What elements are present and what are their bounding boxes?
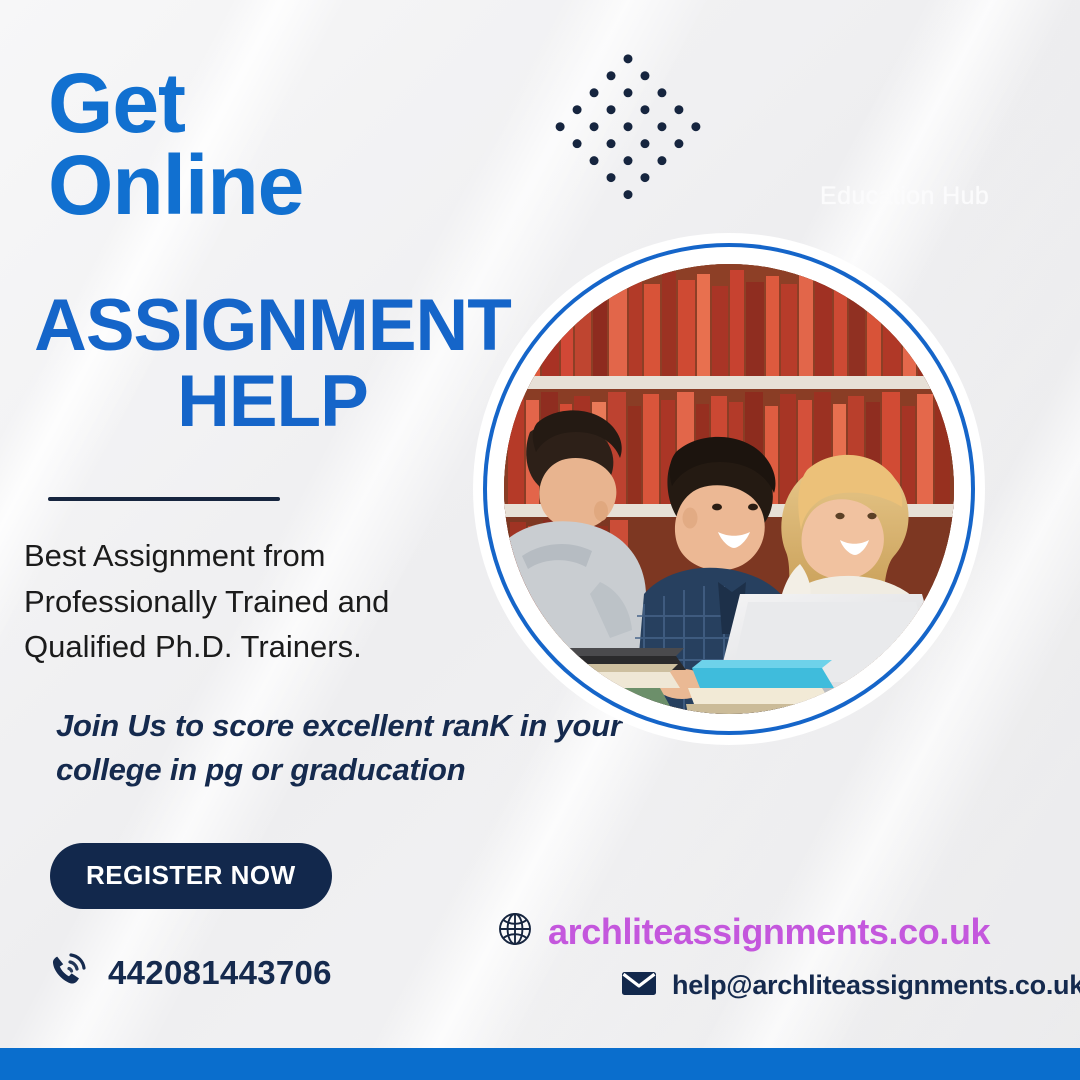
bottom-accent-bar <box>0 1048 1080 1080</box>
dot-diamond-decoration <box>543 41 713 211</box>
headline-line-online: Online <box>48 138 303 232</box>
register-now-button[interactable]: REGISTER NOW <box>50 843 332 909</box>
headline-line-assignment: ASSIGNMENT <box>34 285 511 366</box>
promo-poster: Education Hub Get Online ASSIGNMENT HELP… <box>0 0 1080 1080</box>
body-copy: Best Assignment from Professionally Trai… <box>24 533 494 670</box>
phone-number: 442081443706 <box>108 954 332 992</box>
contact-email[interactable]: help@archliteassignments.co.uk <box>620 964 1080 1007</box>
website-url: archliteassignments.co.uk <box>548 911 990 953</box>
page-title-secondary: ASSIGNMENT HELP <box>10 288 535 440</box>
headline-line-help: HELP <box>10 364 535 440</box>
contact-phone[interactable]: 442081443706 <box>46 948 332 997</box>
contact-website[interactable]: archliteassignments.co.uk <box>494 908 990 955</box>
email-address: help@archliteassignments.co.uk <box>672 970 1080 1001</box>
headline-line-get: Get <box>48 56 185 150</box>
tagline: Join Us to score excellent ranK in your … <box>56 704 656 793</box>
globe-icon <box>494 908 536 955</box>
phone-ringing-icon <box>46 948 90 997</box>
watermark-text: Education Hub <box>820 182 989 211</box>
divider-rule <box>48 497 280 501</box>
hero-photo <box>504 264 954 714</box>
envelope-icon <box>620 964 658 1007</box>
hero-photo-frame <box>490 250 968 728</box>
page-title-primary: Get Online <box>48 62 518 227</box>
